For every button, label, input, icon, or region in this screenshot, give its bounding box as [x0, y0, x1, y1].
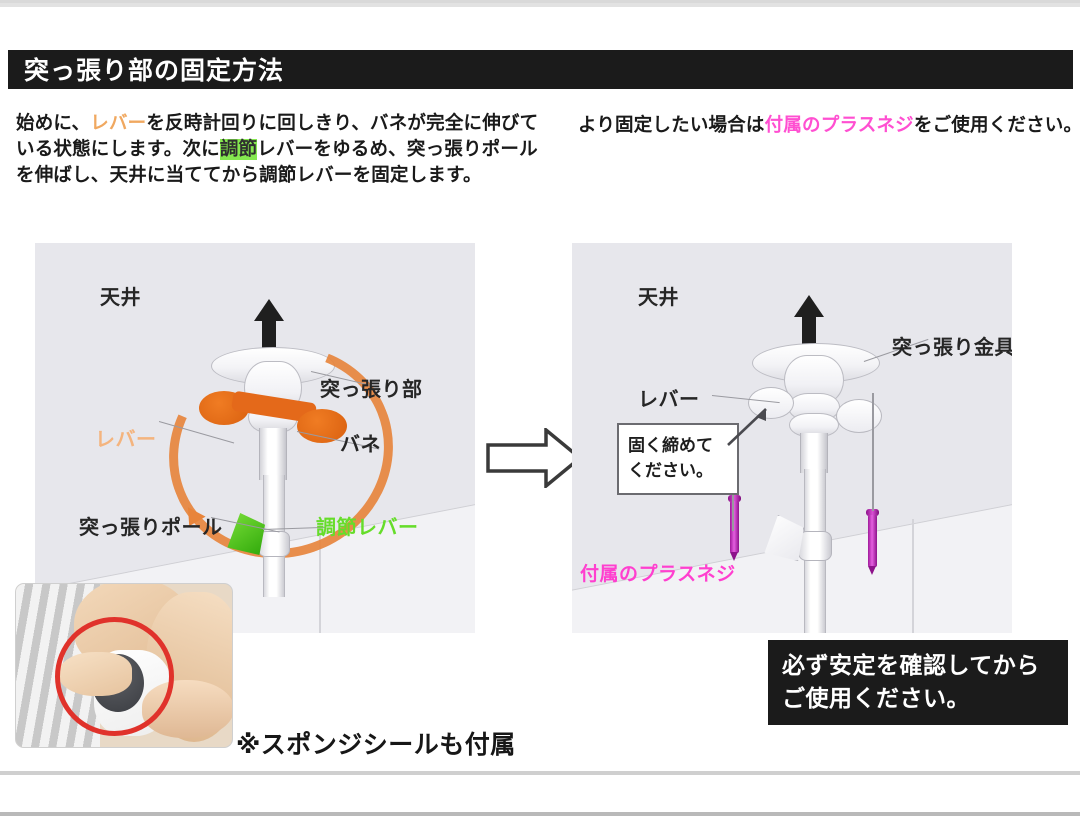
intro-right-a: より固定したい場合は: [578, 115, 765, 136]
photo-highlight-circle: [55, 617, 174, 736]
diagram-panel-step1: 天井 突っ張り部 バネ レバー: [35, 243, 475, 633]
label-lever: レバー: [95, 423, 157, 452]
notice-line-1: 必ず安定を確認してから: [782, 650, 1068, 683]
bottom-divider: [0, 771, 1080, 775]
intro-text-right: より固定したい場合は付属のプラスネジをご使用ください。: [578, 113, 1073, 139]
wall-edge-line: [912, 519, 914, 633]
label-adjust-lever: 調節レバー: [316, 511, 419, 540]
right-step-arrow-icon: [486, 428, 582, 488]
callout-tighten-firmly: 固く締めて ください。: [617, 423, 739, 495]
label-screw: 付属のプラスネジ: [580, 559, 736, 586]
top-divider: [0, 3, 1080, 7]
instruction-page: 突っ張り部の固定方法 始めに、レバーを反時計回りに回しきり、バネが完全に伸びてい…: [0, 0, 1080, 813]
callout-pointer-icon: [726, 407, 774, 449]
intro-left-line1-b: を反時計回りに回しきり、バネが完全に伸びて: [146, 113, 538, 134]
label-brace-part: 突っ張り部: [320, 373, 423, 402]
callout-line-1: 固く締めて: [628, 434, 737, 459]
sponge-seal-photo: [15, 583, 233, 748]
label-bracket: 突っ張り金具: [892, 331, 1012, 360]
pole-upper-section: [259, 428, 287, 480]
label-spring: バネ: [340, 428, 381, 457]
intro-left-line3: を伸ばし、天井に当ててから調節レバーを固定します。: [16, 165, 482, 186]
notice-line-2: ご使用ください。: [782, 683, 1068, 716]
sponge-seal-note: ※スポンジシールも付属: [236, 725, 516, 761]
page-title: 突っ張り部の固定方法: [24, 51, 284, 87]
label-pole: 突っ張りポール: [79, 511, 223, 540]
intro-right-b: をご使用ください。: [914, 115, 1080, 136]
callout-line-2: ください。: [628, 459, 737, 484]
intro-left-line2-b: レバーをゆるめ、突っ張りポール: [257, 139, 538, 160]
label-lever: レバー: [638, 383, 700, 412]
intro-text-left: 始めに、レバーを反時計回りに回しきり、バネが完全に伸びている状態にします。次に調…: [16, 111, 546, 189]
intro-right-screw-highlight: 付属のプラスネジ: [765, 115, 914, 136]
intro-left-adjust-highlight: 調節: [220, 139, 257, 160]
leader-line-screw-left: [732, 493, 734, 531]
label-ceiling: 天井: [100, 281, 141, 310]
section-header-bar: 突っ張り部の固定方法: [8, 49, 1073, 89]
pole-joint: [798, 531, 832, 561]
intro-left-line2-a: いる状態にします。次に: [16, 139, 220, 160]
intro-left-line1-a: 始めに、: [16, 113, 90, 134]
safety-notice-banner: 必ず安定を確認してから ご使用ください。: [768, 640, 1068, 725]
leader-line-screw-right: [872, 393, 874, 511]
label-ceiling: 天井: [638, 281, 679, 310]
intro-left-lever-highlight: レバー: [90, 113, 146, 134]
pole-upper-section: [800, 433, 828, 473]
